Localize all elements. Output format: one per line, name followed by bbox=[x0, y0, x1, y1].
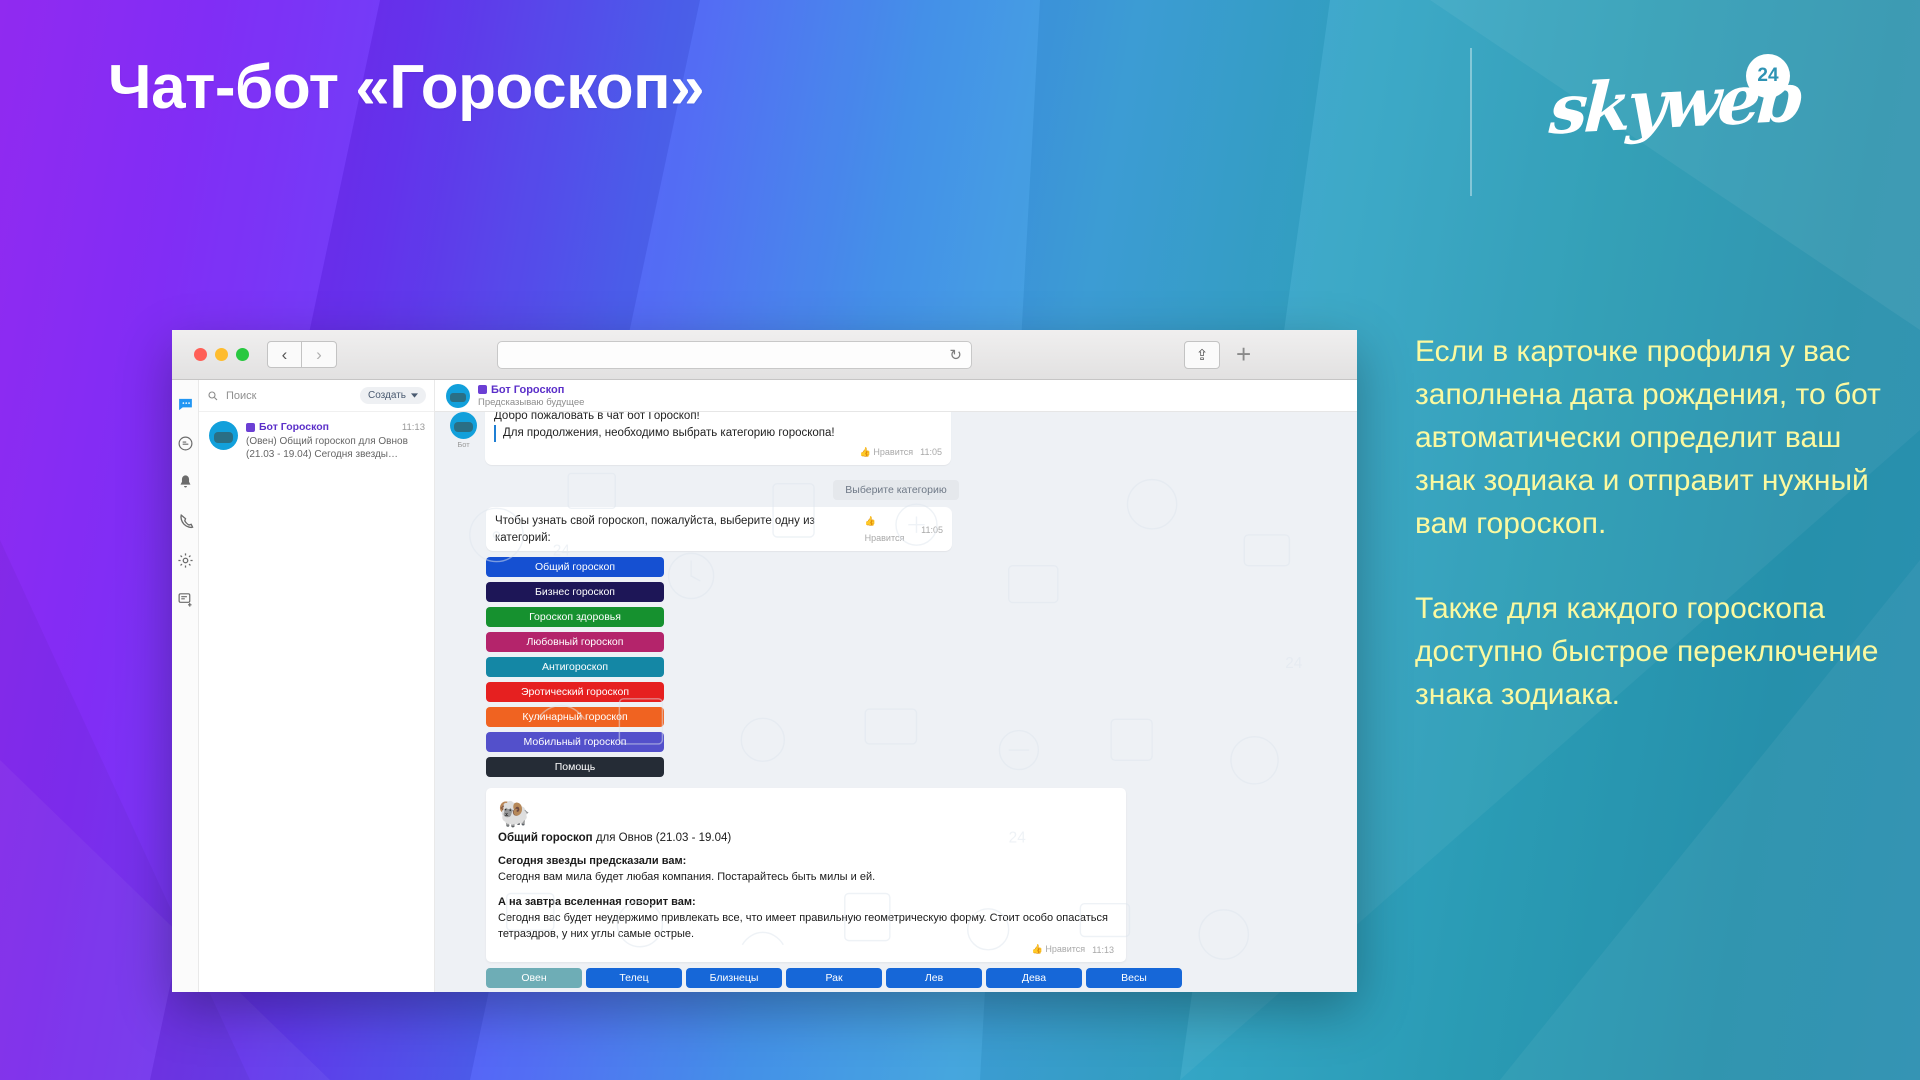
bot-label: Бот bbox=[449, 440, 478, 449]
browser-toolbar: ‹ › ↻ ⇪ + bbox=[172, 330, 1357, 380]
chat-icon[interactable] bbox=[177, 396, 194, 413]
chat-pane: Бот Гороскоп Предсказываю будущее bbox=[435, 380, 1357, 992]
logo-badge: 24 bbox=[1746, 54, 1790, 98]
share-icon[interactable]: ⇪ bbox=[1184, 341, 1220, 369]
message-line-1: Добро пожаловать в чат бот Гороскоп! bbox=[494, 412, 942, 425]
app-rail bbox=[172, 380, 199, 992]
chat-header-status: Предсказываю будущее bbox=[478, 397, 584, 408]
maximize-window-button[interactable] bbox=[236, 348, 249, 361]
svg-text:24: 24 bbox=[553, 542, 571, 559]
chat-header: Бот Гороскоп Предсказываю будущее bbox=[435, 380, 1357, 412]
bell-icon[interactable] bbox=[177, 474, 194, 491]
reload-icon[interactable]: ↻ bbox=[949, 346, 962, 364]
conversation-snippet: (Овен) Общий гороскоп для Овнов (21.03 -… bbox=[246, 435, 425, 461]
avatar bbox=[446, 384, 470, 408]
forward-button[interactable]: › bbox=[302, 341, 337, 368]
message-list[interactable]: 242424 Бот Добро пожаловать в чат бот Го… bbox=[435, 412, 1357, 992]
navigation-buttons: ‹ › bbox=[267, 341, 337, 368]
like-button[interactable]: 👍 Нравится bbox=[860, 444, 913, 461]
logo-divider bbox=[1470, 48, 1472, 196]
svg-text:24: 24 bbox=[1009, 829, 1027, 846]
message-meta: 👍 Нравится 11:05 bbox=[494, 444, 942, 461]
plus-icon[interactable]: + bbox=[1236, 339, 1251, 370]
description-copy: Если в карточке профиля у вас заполнена … bbox=[1415, 330, 1885, 716]
new-chat-icon[interactable] bbox=[177, 591, 194, 608]
gear-icon[interactable] bbox=[177, 552, 194, 569]
svg-text:24: 24 bbox=[1285, 655, 1303, 672]
avatar bbox=[209, 421, 238, 450]
window-traffic-lights bbox=[194, 348, 249, 361]
bot-avatar-block: Бот bbox=[449, 412, 478, 473]
list-item[interactable]: Бот Гороскоп 11:13 (Овен) Общий гороскоп… bbox=[199, 412, 434, 470]
message-time: 11:05 bbox=[920, 444, 942, 461]
search-row: Поиск Создать bbox=[199, 380, 434, 412]
avatar bbox=[450, 412, 477, 439]
message-line-2: Для продолжения, необходимо выбрать кате… bbox=[494, 425, 942, 442]
message-row: Бот Добро пожаловать в чат бот Гороскоп!… bbox=[449, 412, 1343, 473]
conversation-title-row: Бот Гороскоп 11:13 bbox=[246, 421, 425, 433]
minimize-window-button[interactable] bbox=[215, 348, 228, 361]
message-bubble: Добро пожаловать в чат бот Гороскоп! Для… bbox=[485, 412, 951, 465]
bot-badge-icon bbox=[246, 423, 255, 432]
chat-wallpaper-pattern: 242424 bbox=[435, 412, 1357, 992]
create-button-label: Создать bbox=[368, 390, 406, 401]
compass-icon[interactable] bbox=[177, 435, 194, 452]
chat-header-name-row: Бот Гороскоп bbox=[478, 384, 584, 396]
chat-header-text: Бот Гороскоп Предсказываю будущее bbox=[478, 384, 584, 408]
conversation-meta: Бот Гороскоп 11:13 (Овен) Общий гороскоп… bbox=[246, 421, 425, 461]
address-bar[interactable]: ↻ bbox=[497, 341, 972, 369]
chat-header-name: Бот Гороскоп bbox=[491, 384, 564, 396]
back-button[interactable]: ‹ bbox=[267, 341, 302, 368]
chevron-down-icon bbox=[411, 393, 418, 398]
copy-paragraph-1: Если в карточке профиля у вас заполнена … bbox=[1415, 330, 1885, 545]
messenger-app: Поиск Создать Бот Гороскоп 11:13 (Овен) … bbox=[172, 380, 1357, 992]
brand-logo: skyweb 24 bbox=[1540, 48, 1800, 158]
conversation-name: Бот Гороскоп bbox=[259, 421, 329, 433]
phone-icon[interactable] bbox=[177, 513, 194, 530]
slide-title: Чат-бот «Гороскоп» bbox=[108, 52, 704, 123]
search-icon bbox=[207, 390, 219, 402]
bot-badge-icon bbox=[478, 385, 487, 394]
conversation-list: Поиск Создать Бот Гороскоп 11:13 (Овен) … bbox=[199, 380, 435, 992]
browser-window: ‹ › ↻ ⇪ + bbox=[172, 330, 1357, 992]
close-window-button[interactable] bbox=[194, 348, 207, 361]
create-button[interactable]: Создать bbox=[360, 387, 426, 404]
search-input[interactable]: Поиск bbox=[226, 390, 353, 402]
conversation-time: 11:13 bbox=[402, 422, 425, 433]
copy-paragraph-2: Также для каждого гороскопа доступно быс… bbox=[1415, 587, 1885, 716]
